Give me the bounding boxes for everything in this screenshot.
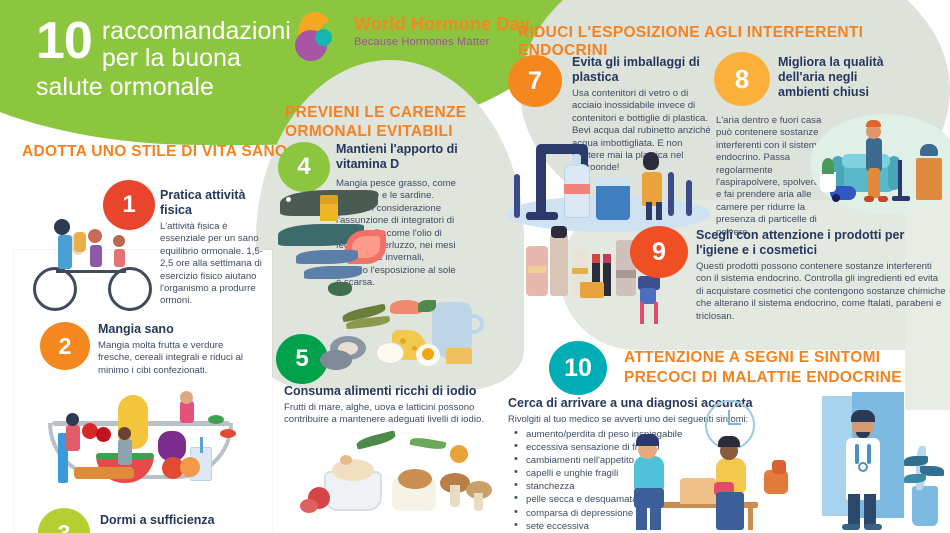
vacuum-cleaning-illustration xyxy=(820,110,950,215)
badge-4: 4 xyxy=(278,142,330,192)
item-8: Migliora la qualità dell'aria negli ambi… xyxy=(778,55,908,100)
item-2: Mangia sano Mangia molta frutta e verdur… xyxy=(98,322,248,377)
logo-title: World Hormone Day xyxy=(354,14,530,35)
section-heading-deficiencies-line2: ORMONALI EVITABILI xyxy=(285,122,515,141)
item-3-title: Dormi a sufficienza xyxy=(100,513,280,528)
waiting-room-illustration xyxy=(616,430,806,533)
item-8-body: L'aria dentro e fuori casa può contenere… xyxy=(716,115,824,239)
item-1-body: L'attività fisica è essenziale per un sa… xyxy=(160,221,272,308)
badge-2: 2 xyxy=(40,322,90,370)
logo-egg-teal-icon xyxy=(315,29,332,46)
hero-line-3: salute ormonale xyxy=(36,73,436,101)
item-5-title: Consuma alimenti ricchi di iodio xyxy=(284,384,520,399)
item-9-title: Scegli con attenzione i prodotti per l'i… xyxy=(696,228,946,258)
section-heading-symptoms-line1: ATTENZIONE A SEGNI E SINTOMI xyxy=(624,348,902,368)
item-7-title: Evita gli imballaggi di plastica xyxy=(572,55,710,85)
badge-9: 9 xyxy=(630,226,688,278)
doctor-illustration xyxy=(808,390,950,533)
fruit-bowl-illustration xyxy=(30,395,260,505)
hero-number: 10 xyxy=(36,18,92,64)
item-3: Dormi a sufficienza xyxy=(100,513,280,528)
section-heading-lifestyle: ADOTTA UNO STILE DI VITA SANO xyxy=(22,143,287,161)
iodine-foods-illustration xyxy=(320,300,520,390)
item-2-title: Mangia sano xyxy=(98,322,248,337)
item-5: Consuma alimenti ricchi di iodio Frutti … xyxy=(284,384,520,427)
hero-line-2: per la buona xyxy=(102,45,291,72)
world-hormone-day-logo: World Hormone Day Because Hormones Matte… xyxy=(292,8,532,66)
badge-10: 10 xyxy=(549,341,607,395)
badge-7: 7 xyxy=(508,55,562,107)
iodine-foods-bottom-illustration xyxy=(300,425,515,533)
item-2-body: Mangia molta frutta e verdure fresche, c… xyxy=(98,340,248,377)
family-bicycle-illustration xyxy=(28,215,163,315)
section-heading-deficiencies: PREVIENI LE CARENZE ORMONALI EVITABILI xyxy=(285,103,515,141)
item-1: Pratica attività fisica L'attività fisic… xyxy=(160,188,272,308)
item-9: Scegli con attenzione i prodotti per l'i… xyxy=(696,228,946,323)
infographic-canvas: 10 raccomandazioni per la buona salute o… xyxy=(0,0,950,533)
item-9-body: Questi prodotti possono contenere sostan… xyxy=(696,261,946,323)
water-tap-plastic-illustration xyxy=(510,140,710,230)
logo-eggs-icon xyxy=(292,12,354,64)
item-1-title: Pratica attività fisica xyxy=(160,188,272,218)
item-8-title: Migliora la qualità dell'aria negli ambi… xyxy=(778,55,908,100)
item-8-body-wrap: L'aria dentro e fuori casa può contenere… xyxy=(716,112,824,239)
section-heading-symptoms-line2: PRECOCI DI MALATTIE ENDOCRINE xyxy=(624,368,902,388)
item-4-title: Mantieni l'apporto di vitamina D xyxy=(336,142,462,172)
logo-subtitle: Because Hormones Matter xyxy=(354,36,489,48)
section-heading-symptoms: ATTENZIONE A SEGNI E SINTOMI PRECOCI DI … xyxy=(624,348,902,388)
badge-8: 8 xyxy=(714,52,770,106)
hero-line-1: raccomandazioni xyxy=(102,18,291,45)
item-5-body: Frutti di mare, alghe, uova e latticini … xyxy=(284,402,520,427)
section-heading-deficiencies-line1: PREVIENI LE CARENZE xyxy=(285,103,515,122)
fatty-fish-illustration xyxy=(276,186,411,296)
